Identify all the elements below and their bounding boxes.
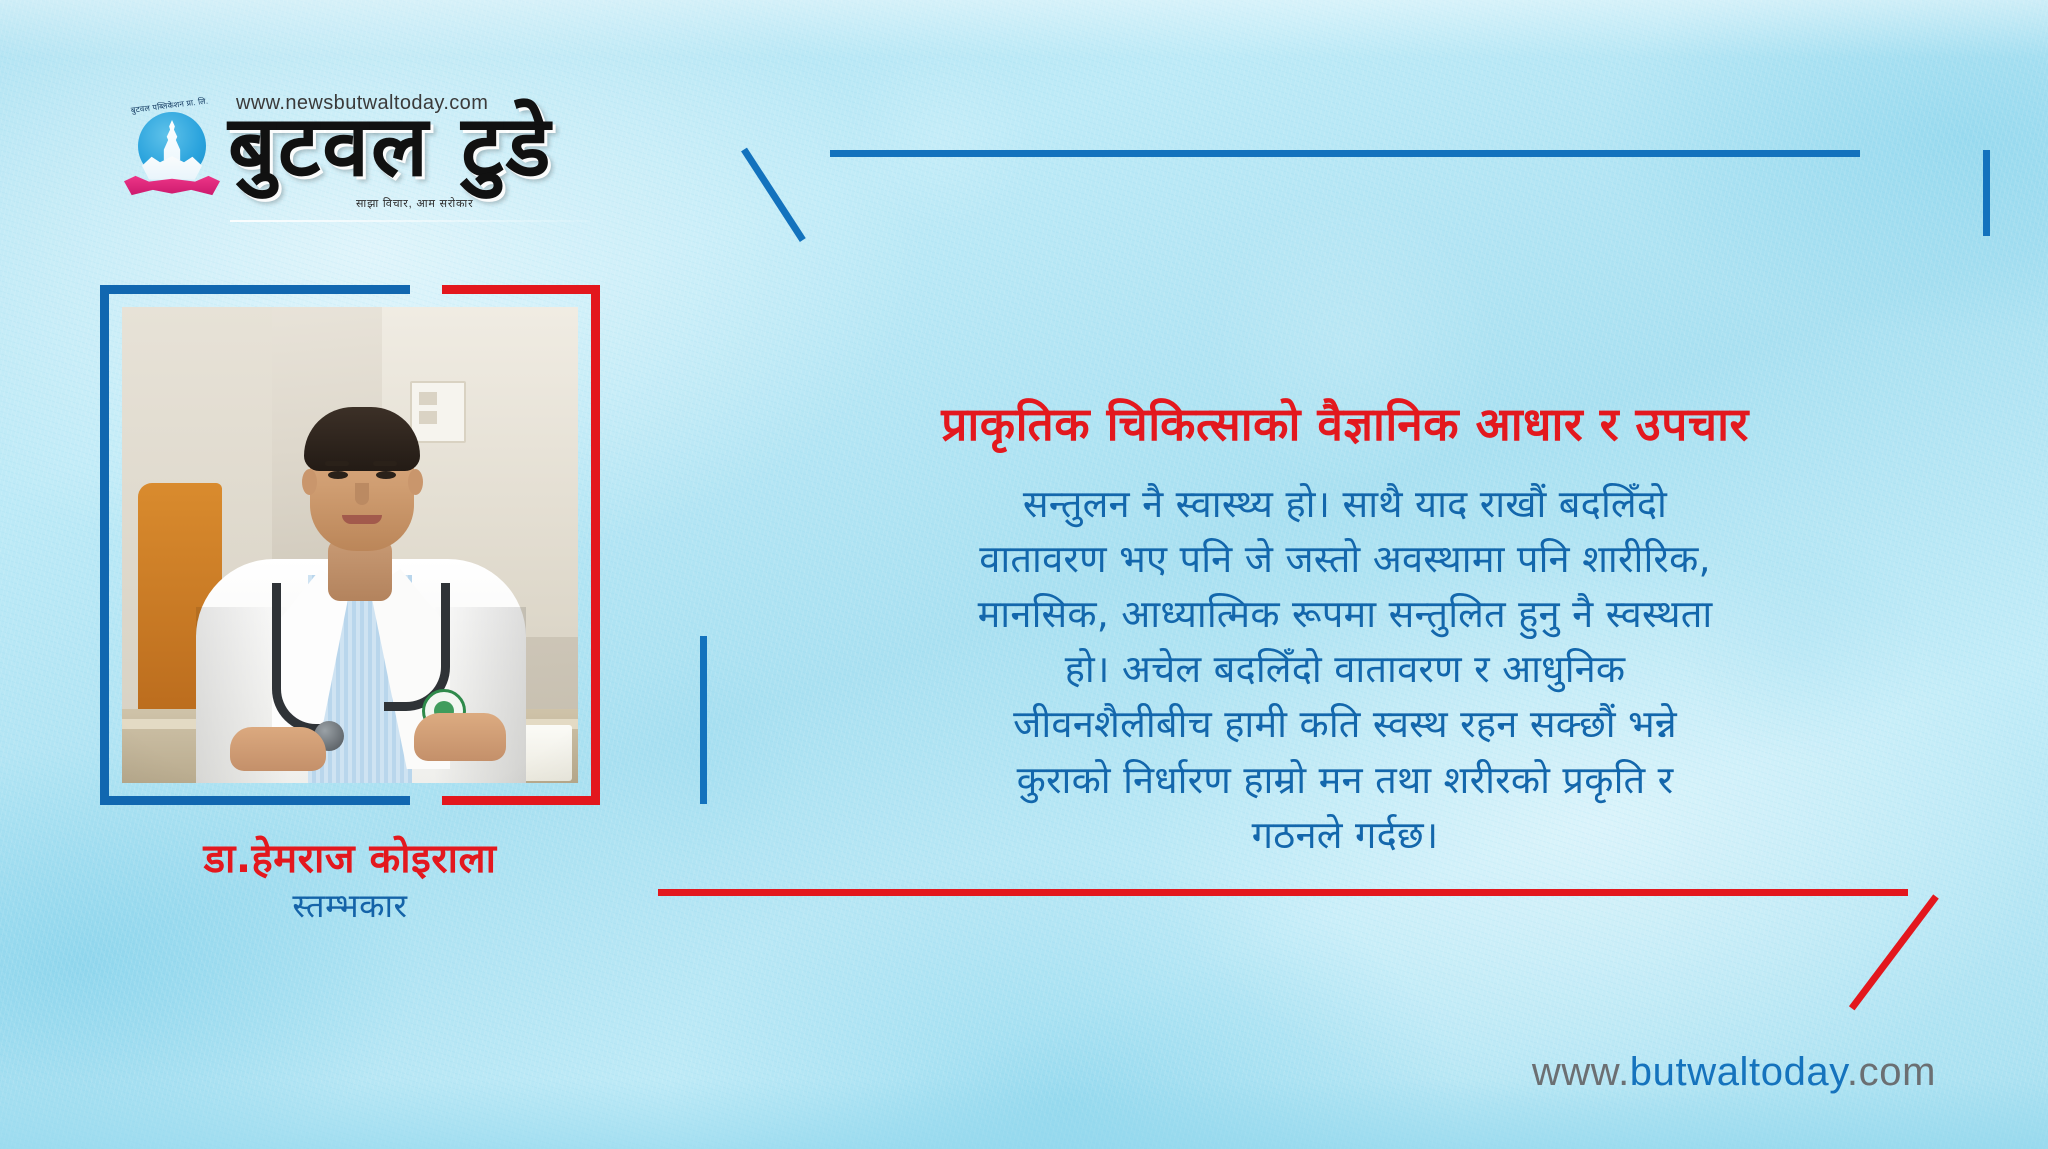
body-line: कुराको निर्धारण हाम्रो मन तथा शरीरको प्र… [700, 753, 1990, 808]
footer-website-url: www.butwaltoday.com [1532, 1050, 1936, 1095]
article-block: प्राकृतिक चिकित्साको वैज्ञानिक आधार र उप… [700, 396, 1990, 863]
masthead-tagline: साझा विचार, आम सरोकार [356, 196, 473, 211]
article-headline: प्राकृतिक चिकित्साको वैज्ञानिक आधार र उप… [700, 396, 1990, 453]
portrait-frame [100, 285, 600, 805]
portrait-caption: डा.हेमराज कोइराला स्तम्भकार [100, 836, 600, 926]
footer-url-suffix: .com [1847, 1050, 1936, 1094]
masthead-divider [230, 220, 590, 222]
deco-top-horizontal-line [830, 150, 1860, 157]
deco-bottom-horizontal-line [658, 889, 1908, 896]
frame-right-red-border [591, 285, 600, 805]
frame-top-red-segment [442, 285, 600, 294]
deco-top-left-diagonal [741, 148, 806, 242]
body-line: गठनले गर्दछ। [700, 808, 1990, 863]
author-name: डा.हेमराज कोइराला [100, 836, 600, 883]
body-line: वातावरण भए पनि जे जस्तो अवस्थामा पनि शार… [700, 532, 1990, 587]
author-role: स्तम्भकार [100, 885, 600, 926]
masthead-title: बुटवल टुडे [228, 104, 552, 188]
frame-bottom-blue-segment [100, 796, 410, 805]
footer-url-prefix: www. [1532, 1050, 1630, 1094]
frame-left-blue-border [100, 285, 109, 805]
body-line: सन्तुलन नै स्वास्थ्य हो। साथै याद राखौं … [700, 477, 1990, 532]
publisher-logo-icon: बुटवल पब्लिकेशन प्रा. लि. [120, 98, 224, 198]
article-body-text: सन्तुलन नै स्वास्थ्य हो। साथै याद राखौं … [700, 477, 1990, 863]
deco-top-right-vertical [1983, 150, 1990, 236]
doctor-portrait-photo [122, 307, 578, 783]
masthead: बुटवल पब्लिकेशन प्रा. लि. www.newsbutwal… [120, 92, 590, 202]
photo-vignette [122, 307, 578, 783]
footer-url-name: butwaltoday [1630, 1050, 1847, 1094]
logo-arc-text: बुटवल पब्लिकेशन प्रा. लि. [119, 96, 224, 156]
body-line: मानसिक, आध्यात्मिक रूपमा सन्तुलित हुनु न… [700, 587, 1990, 642]
frame-bottom-red-segment [442, 796, 600, 805]
body-line: जीवनशैलीबीच हामी कति स्वस्थ रहन सक्छौं भ… [700, 697, 1990, 752]
body-line: हो। अचेल बदलिँदो वातावरण र आधुनिक [700, 642, 1990, 697]
frame-top-blue-segment [100, 285, 410, 294]
